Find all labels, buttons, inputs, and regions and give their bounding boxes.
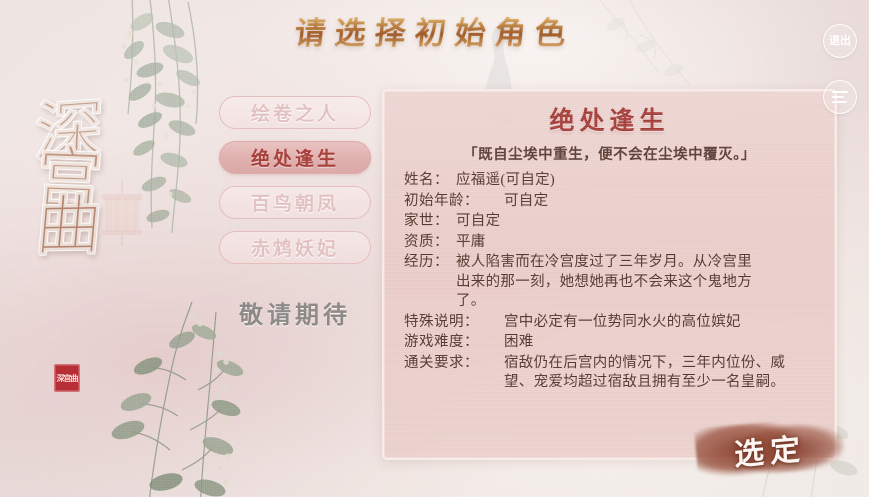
field-value: 平庸	[456, 233, 824, 253]
detail-quote: 「既自尘埃中重生，便不会在尘埃中覆灭。」	[384, 143, 835, 164]
field-value: 应福遥(可自定)	[456, 171, 824, 191]
list-icon	[832, 91, 848, 103]
logo-char-3: 曲	[33, 198, 104, 257]
field-label: 家世：	[404, 212, 456, 232]
character-detail-panel: 绝处逢生 「既自尘埃中重生，便不会在尘埃中覆灭。」 姓名： 应福遥(可自定) 初…	[382, 89, 837, 460]
seal-stamp: 深宫曲	[54, 364, 80, 392]
field-label: 姓名：	[404, 171, 456, 191]
coming-soon-label: 敬请期待	[219, 295, 371, 330]
field-value: 可自定	[504, 192, 824, 212]
page-title: 请选择初始角色	[0, 8, 869, 53]
field-value: 宿敌仍在后宫内的情况下，三年内位份、威望、宠爱均超过宿敌且拥有至少一名皇嗣。	[504, 354, 804, 393]
detail-row: 初始年龄： 可自定	[404, 192, 824, 212]
field-label: 特殊说明：	[404, 313, 504, 333]
field-label: 初始年龄：	[404, 192, 504, 212]
exit-icon: 退出	[829, 36, 851, 47]
character-option-0[interactable]: 绘卷之人	[219, 96, 371, 129]
character-option-3[interactable]: 赤鸩妖妃	[219, 231, 371, 264]
character-option-1[interactable]: 绝处逢生	[219, 141, 371, 174]
character-list: 绘卷之人 绝处逢生 百鸟朝凤 赤鸩妖妃	[219, 96, 371, 264]
field-value: 困难	[504, 333, 824, 353]
character-option-label: 绘卷之人	[251, 99, 339, 126]
game-logo-calligraphy: 深 宫 曲	[14, 104, 124, 354]
exit-button[interactable]: 退出	[823, 24, 857, 58]
field-value: 被人陷害而在冷宫度过了三年岁月。从冷宫里出来的那一刻，她想她再也不会来这个鬼地方…	[456, 253, 756, 312]
character-option-2[interactable]: 百鸟朝凤	[219, 186, 371, 219]
field-label: 经历：	[404, 253, 456, 273]
menu-button[interactable]	[823, 80, 857, 114]
field-label: 通关要求：	[404, 354, 504, 374]
detail-field-list: 姓名： 应福遥(可自定) 初始年龄： 可自定 家世： 可自定 资质： 平庸 经历…	[404, 171, 824, 393]
confirm-button-label: 选定	[733, 424, 806, 474]
detail-row: 特殊说明： 宫中必定有一位势同水火的高位嫔妃	[404, 313, 824, 333]
character-select-screen: 深 宫 曲 深宫曲 请选择初始角色 退出 绘卷之人 绝处逢生 百鸟朝凤 赤鸩妖妃…	[0, 0, 869, 497]
game-logo: 深 宫 曲 深宫曲	[14, 104, 124, 404]
character-option-label: 百鸟朝凤	[251, 189, 339, 216]
character-option-label: 绝处逢生	[251, 144, 339, 171]
field-value: 可自定	[456, 212, 824, 232]
field-label: 游戏难度：	[404, 333, 504, 353]
page-title-text: 请选择初始角色	[292, 8, 577, 53]
detail-title: 绝处逢生	[384, 101, 835, 137]
detail-row: 家世： 可自定	[404, 212, 824, 232]
detail-row: 资质： 平庸	[404, 233, 824, 253]
detail-row: 姓名： 应福遥(可自定)	[404, 171, 824, 191]
field-label: 资质：	[404, 233, 456, 253]
confirm-button[interactable]: 选定	[690, 414, 850, 484]
character-option-label: 赤鸩妖妃	[251, 234, 339, 261]
detail-row: 通关要求： 宿敌仍在后宫内的情况下，三年内位份、威望、宠爱均超过宿敌且拥有至少一…	[404, 354, 824, 393]
detail-row: 经历： 被人陷害而在冷宫度过了三年岁月。从冷宫里出来的那一刻，她想她再也不会来这…	[404, 253, 824, 312]
field-value: 宫中必定有一位势同水火的高位嫔妃	[504, 313, 824, 333]
detail-row: 游戏难度： 困难	[404, 333, 824, 353]
